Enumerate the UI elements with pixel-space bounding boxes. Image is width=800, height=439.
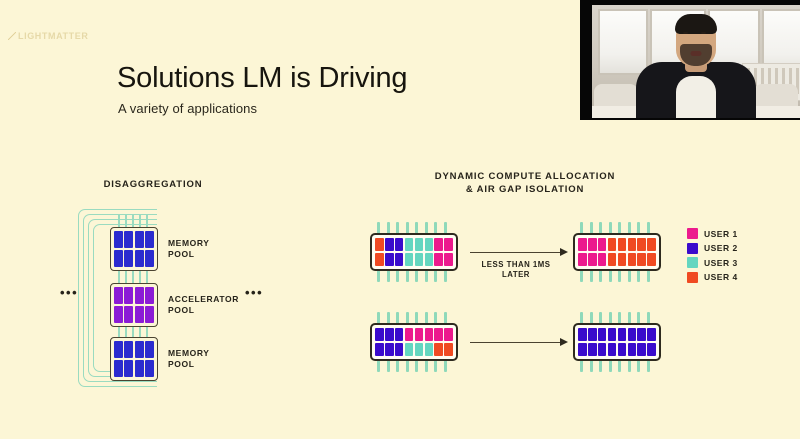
- compute-cell-user3: [405, 343, 414, 356]
- pool-cell: [135, 341, 144, 358]
- pool-cell: [114, 231, 123, 248]
- compute-cell-user2: [395, 343, 404, 356]
- pool-cell: [145, 360, 154, 377]
- dynamic-heading-line2: & AIR GAP ISOLATION: [400, 183, 650, 196]
- legend-label-user2: USER 2: [704, 243, 738, 253]
- arrow-line: [470, 252, 562, 253]
- compute-cell-user4: [628, 253, 637, 266]
- pool-cell: [145, 287, 154, 304]
- pool-label-line2: POOL: [168, 359, 210, 370]
- pool-label: MEMORYPOOL: [168, 238, 210, 260]
- legend-swatch-user2: [687, 243, 698, 254]
- compute-cell-user2: [578, 343, 587, 356]
- compute-cell-user2: [608, 328, 617, 341]
- legend-label-user3: USER 3: [704, 258, 738, 268]
- compute-cell-user2: [647, 328, 656, 341]
- speaker-video-overlay[interactable]: [580, 0, 800, 120]
- arrow-caption-line1: LESS THAN 1MS: [471, 260, 561, 270]
- compute-cell-user1: [425, 328, 434, 341]
- compute-cell-user4: [434, 343, 443, 356]
- pool-cell: [124, 287, 133, 304]
- window-pane: [598, 9, 648, 75]
- pool-cell: [145, 306, 154, 323]
- compute-cell-user2: [385, 238, 394, 251]
- compute-chip-before-row2[interactable]: [370, 323, 458, 361]
- pool-label: MEMORYPOOL: [168, 348, 210, 370]
- section-heading-dynamic-compute: DYNAMIC COMPUTE ALLOCATION & AIR GAP ISO…: [400, 170, 650, 196]
- compute-cell-user2: [618, 343, 627, 356]
- resource-pool-memory[interactable]: [110, 227, 158, 271]
- compute-cell-user2: [618, 328, 627, 341]
- compute-cell-user1: [578, 238, 587, 251]
- compute-cell-user4: [608, 238, 617, 251]
- compute-cell-user2: [637, 328, 646, 341]
- pool-cell: [135, 360, 144, 377]
- compute-cell-user3: [425, 343, 434, 356]
- compute-chip-after-row1[interactable]: [573, 233, 661, 271]
- pool-cell: [124, 341, 133, 358]
- legend-swatch-user1: [687, 228, 698, 239]
- compute-cell-user2: [395, 238, 404, 251]
- compute-cell-user1: [405, 328, 414, 341]
- legend-swatch-user3: [687, 257, 698, 268]
- person-eye: [701, 32, 706, 35]
- pool-cell: [135, 250, 144, 267]
- ellipsis-right: •••: [245, 285, 263, 300]
- compute-cell-user4: [375, 238, 384, 251]
- compute-cell-user1: [444, 238, 453, 251]
- compute-cell-user3: [405, 253, 414, 266]
- compute-cell-user1: [598, 253, 607, 266]
- compute-cell-user4: [375, 253, 384, 266]
- legend-label-user1: USER 1: [704, 229, 738, 239]
- pool-label-line1: ACCELERATOR: [168, 294, 239, 305]
- pool-cell: [124, 250, 133, 267]
- legend-item-user1: USER 1: [687, 228, 738, 239]
- compute-cell-user2: [598, 328, 607, 341]
- compute-cell-user3: [405, 238, 414, 251]
- compute-cell-user3: [415, 343, 424, 356]
- pool-cell: [135, 306, 144, 323]
- compute-cell-user1: [434, 238, 443, 251]
- lightmatter-logo: LIGHTMATTER: [8, 31, 88, 41]
- compute-cell-user2: [395, 328, 404, 341]
- compute-cell-user4: [618, 238, 627, 251]
- compute-cell-user4: [444, 343, 453, 356]
- pool-cell: [124, 360, 133, 377]
- pool-cell: [135, 231, 144, 248]
- legend-label-user4: USER 4: [704, 272, 738, 282]
- dynamic-compute-diagram: LESS THAN 1MSLATER: [355, 205, 685, 390]
- pool-cell: [124, 306, 133, 323]
- compute-cell-user2: [375, 343, 384, 356]
- logo-wordmark: LIGHTMATTER: [18, 31, 88, 41]
- logo-mark-icon: [8, 32, 16, 40]
- pool-label: ACCELERATORPOOL: [168, 294, 239, 316]
- legend-item-user3: USER 3: [687, 257, 738, 268]
- arrow-head-icon: [560, 338, 568, 346]
- pool-cell: [135, 287, 144, 304]
- arrow-caption: LESS THAN 1MSLATER: [471, 260, 561, 280]
- compute-cell-user2: [608, 343, 617, 356]
- compute-cell-user1: [598, 238, 607, 251]
- compute-cell-user3: [415, 238, 424, 251]
- pool-cell: [124, 231, 133, 248]
- compute-cell-user2: [578, 328, 587, 341]
- pool-label-line1: MEMORY: [168, 238, 210, 249]
- pool-cell: [114, 360, 123, 377]
- arrow-line: [470, 342, 562, 343]
- pool-cell: [114, 341, 123, 358]
- user-legend: USER 1USER 2USER 3USER 4: [687, 228, 738, 286]
- compute-cell-user2: [598, 343, 607, 356]
- resource-pool-accelerator[interactable]: [110, 283, 158, 327]
- pool-cell: [114, 306, 123, 323]
- compute-cell-user4: [618, 253, 627, 266]
- compute-cell-user2: [628, 343, 637, 356]
- dynamic-heading-line1: DYNAMIC COMPUTE ALLOCATION: [400, 170, 650, 183]
- compute-cell-user2: [588, 328, 597, 341]
- compute-cell-user2: [385, 328, 394, 341]
- presentation-slide: LIGHTMATTER Solutions LM is Driving A va…: [0, 0, 800, 439]
- compute-cell-user2: [628, 328, 637, 341]
- pool-cell: [114, 287, 123, 304]
- arrow-caption-line2: LATER: [471, 270, 561, 280]
- page-subtitle: A variety of applications: [118, 101, 257, 116]
- legend-item-user4: USER 4: [687, 272, 738, 283]
- person-shirt: [676, 76, 716, 118]
- pool-label-line1: MEMORY: [168, 348, 210, 359]
- section-heading-disaggregation: DISAGGREGATION: [58, 178, 248, 191]
- compute-cell-user1: [415, 328, 424, 341]
- compute-cell-user3: [415, 253, 424, 266]
- compute-cell-user2: [385, 343, 394, 356]
- pool-cell: [114, 250, 123, 267]
- compute-cell-user1: [434, 253, 443, 266]
- arrow-head-icon: [560, 248, 568, 256]
- compute-cell-user4: [628, 238, 637, 251]
- person-eye: [683, 32, 688, 35]
- compute-cell-user1: [578, 253, 587, 266]
- person-hair: [675, 14, 717, 34]
- compute-chip-after-row2[interactable]: [573, 323, 661, 361]
- compute-cell-user4: [637, 253, 646, 266]
- compute-cell-user1: [444, 328, 453, 341]
- person-mouth: [691, 51, 702, 56]
- compute-cell-user2: [588, 343, 597, 356]
- compute-cell-user4: [637, 238, 646, 251]
- compute-cell-user4: [647, 253, 656, 266]
- legend-item-user2: USER 2: [687, 243, 738, 254]
- resource-pool-memory[interactable]: [110, 337, 158, 381]
- legend-swatch-user4: [687, 272, 698, 283]
- compute-cell-user2: [647, 343, 656, 356]
- video-frame: [592, 5, 800, 118]
- compute-cell-user3: [425, 253, 434, 266]
- ellipsis-left: •••: [60, 285, 78, 300]
- disaggregation-diagram: ••• ••• MEMORYPOOLACCELERATORPOOLMEMORYP…: [60, 205, 310, 395]
- compute-cell-user2: [637, 343, 646, 356]
- compute-cell-user2: [385, 253, 394, 266]
- compute-cell-user4: [608, 253, 617, 266]
- compute-cell-user4: [647, 238, 656, 251]
- pool-cell: [145, 231, 154, 248]
- compute-cell-user2: [395, 253, 404, 266]
- compute-cell-user1: [434, 328, 443, 341]
- compute-chip-before-row1[interactable]: [370, 233, 458, 271]
- compute-cell-user1: [588, 253, 597, 266]
- pool-label-line2: POOL: [168, 249, 210, 260]
- pool-cell: [145, 341, 154, 358]
- compute-cell-user1: [444, 253, 453, 266]
- compute-cell-user1: [588, 238, 597, 251]
- pool-label-line2: POOL: [168, 305, 239, 316]
- pool-cell: [145, 250, 154, 267]
- compute-cell-user2: [375, 328, 384, 341]
- page-title: Solutions LM is Driving: [117, 62, 407, 95]
- compute-cell-user3: [425, 238, 434, 251]
